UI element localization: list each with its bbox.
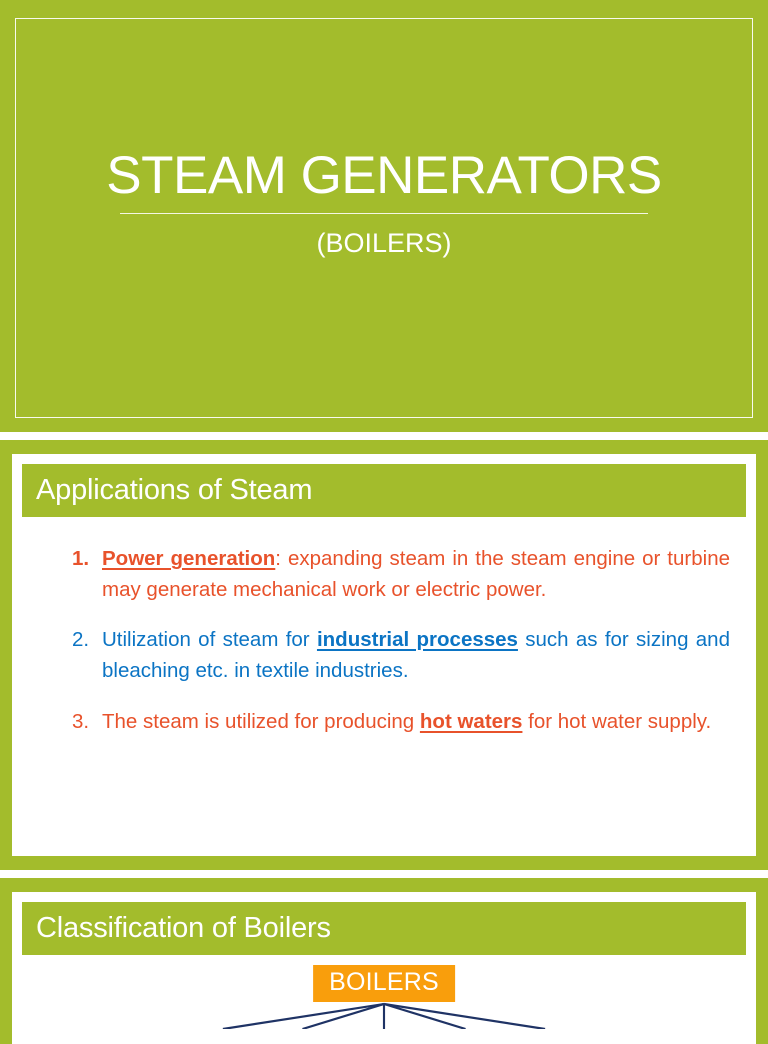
slide-classification-of-boilers: Classification of Boilers BOILERS: [0, 880, 768, 1044]
list-item-number: 2.: [72, 624, 102, 655]
list-item-number: 3.: [72, 706, 102, 737]
slide-card: Classification of Boilers BOILERS: [12, 892, 756, 1044]
slide-heading-applications: Applications of Steam: [22, 464, 746, 517]
list-item-text: The steam is utilized for producing hot …: [102, 706, 730, 737]
slide-gap: [0, 432, 768, 440]
list-item-emphasis: industrial processes: [317, 628, 518, 651]
applications-list: 1. Power generation: expanding steam in …: [22, 517, 746, 737]
slide-card: Applications of Steam 1. Power generatio…: [12, 454, 756, 856]
slide-title-steam-generators: STEAM GENERATORS (BOILERS): [0, 0, 768, 432]
slide-heading-classification: Classification of Boilers: [22, 902, 746, 955]
list-item: 3. The steam is utilized for producing h…: [72, 706, 730, 737]
page-subtitle: (BOILERS): [0, 214, 768, 259]
slide-deck: STEAM GENERATORS (BOILERS) Applications …: [0, 0, 768, 1044]
list-item-trailing: for hot water supply.: [522, 710, 711, 733]
list-item-emphasis: hot waters: [420, 710, 523, 733]
boiler-classification-diagram: BOILERS: [22, 955, 746, 1029]
list-item-text: Utilization of steam for industrial proc…: [102, 624, 730, 686]
list-item: 2. Utilization of steam for industrial p…: [72, 624, 730, 686]
slide-gap: [0, 870, 768, 878]
slide-applications-of-steam: Applications of Steam 1. Power generatio…: [0, 442, 768, 870]
page-title: STEAM GENERATORS: [0, 148, 768, 213]
list-item-leading: The steam is utilized for producing: [102, 710, 420, 733]
title-block: STEAM GENERATORS (BOILERS): [0, 148, 768, 259]
list-item-text: Power generation: expanding steam in the…: [102, 543, 730, 605]
list-item: 1. Power generation: expanding steam in …: [72, 543, 730, 605]
list-item-number: 1.: [72, 543, 102, 574]
diagram-node-boilers: BOILERS: [313, 965, 455, 1002]
list-item-leading: Utilization of steam for: [102, 628, 317, 651]
list-item-emphasis: Power generation: [102, 547, 275, 570]
